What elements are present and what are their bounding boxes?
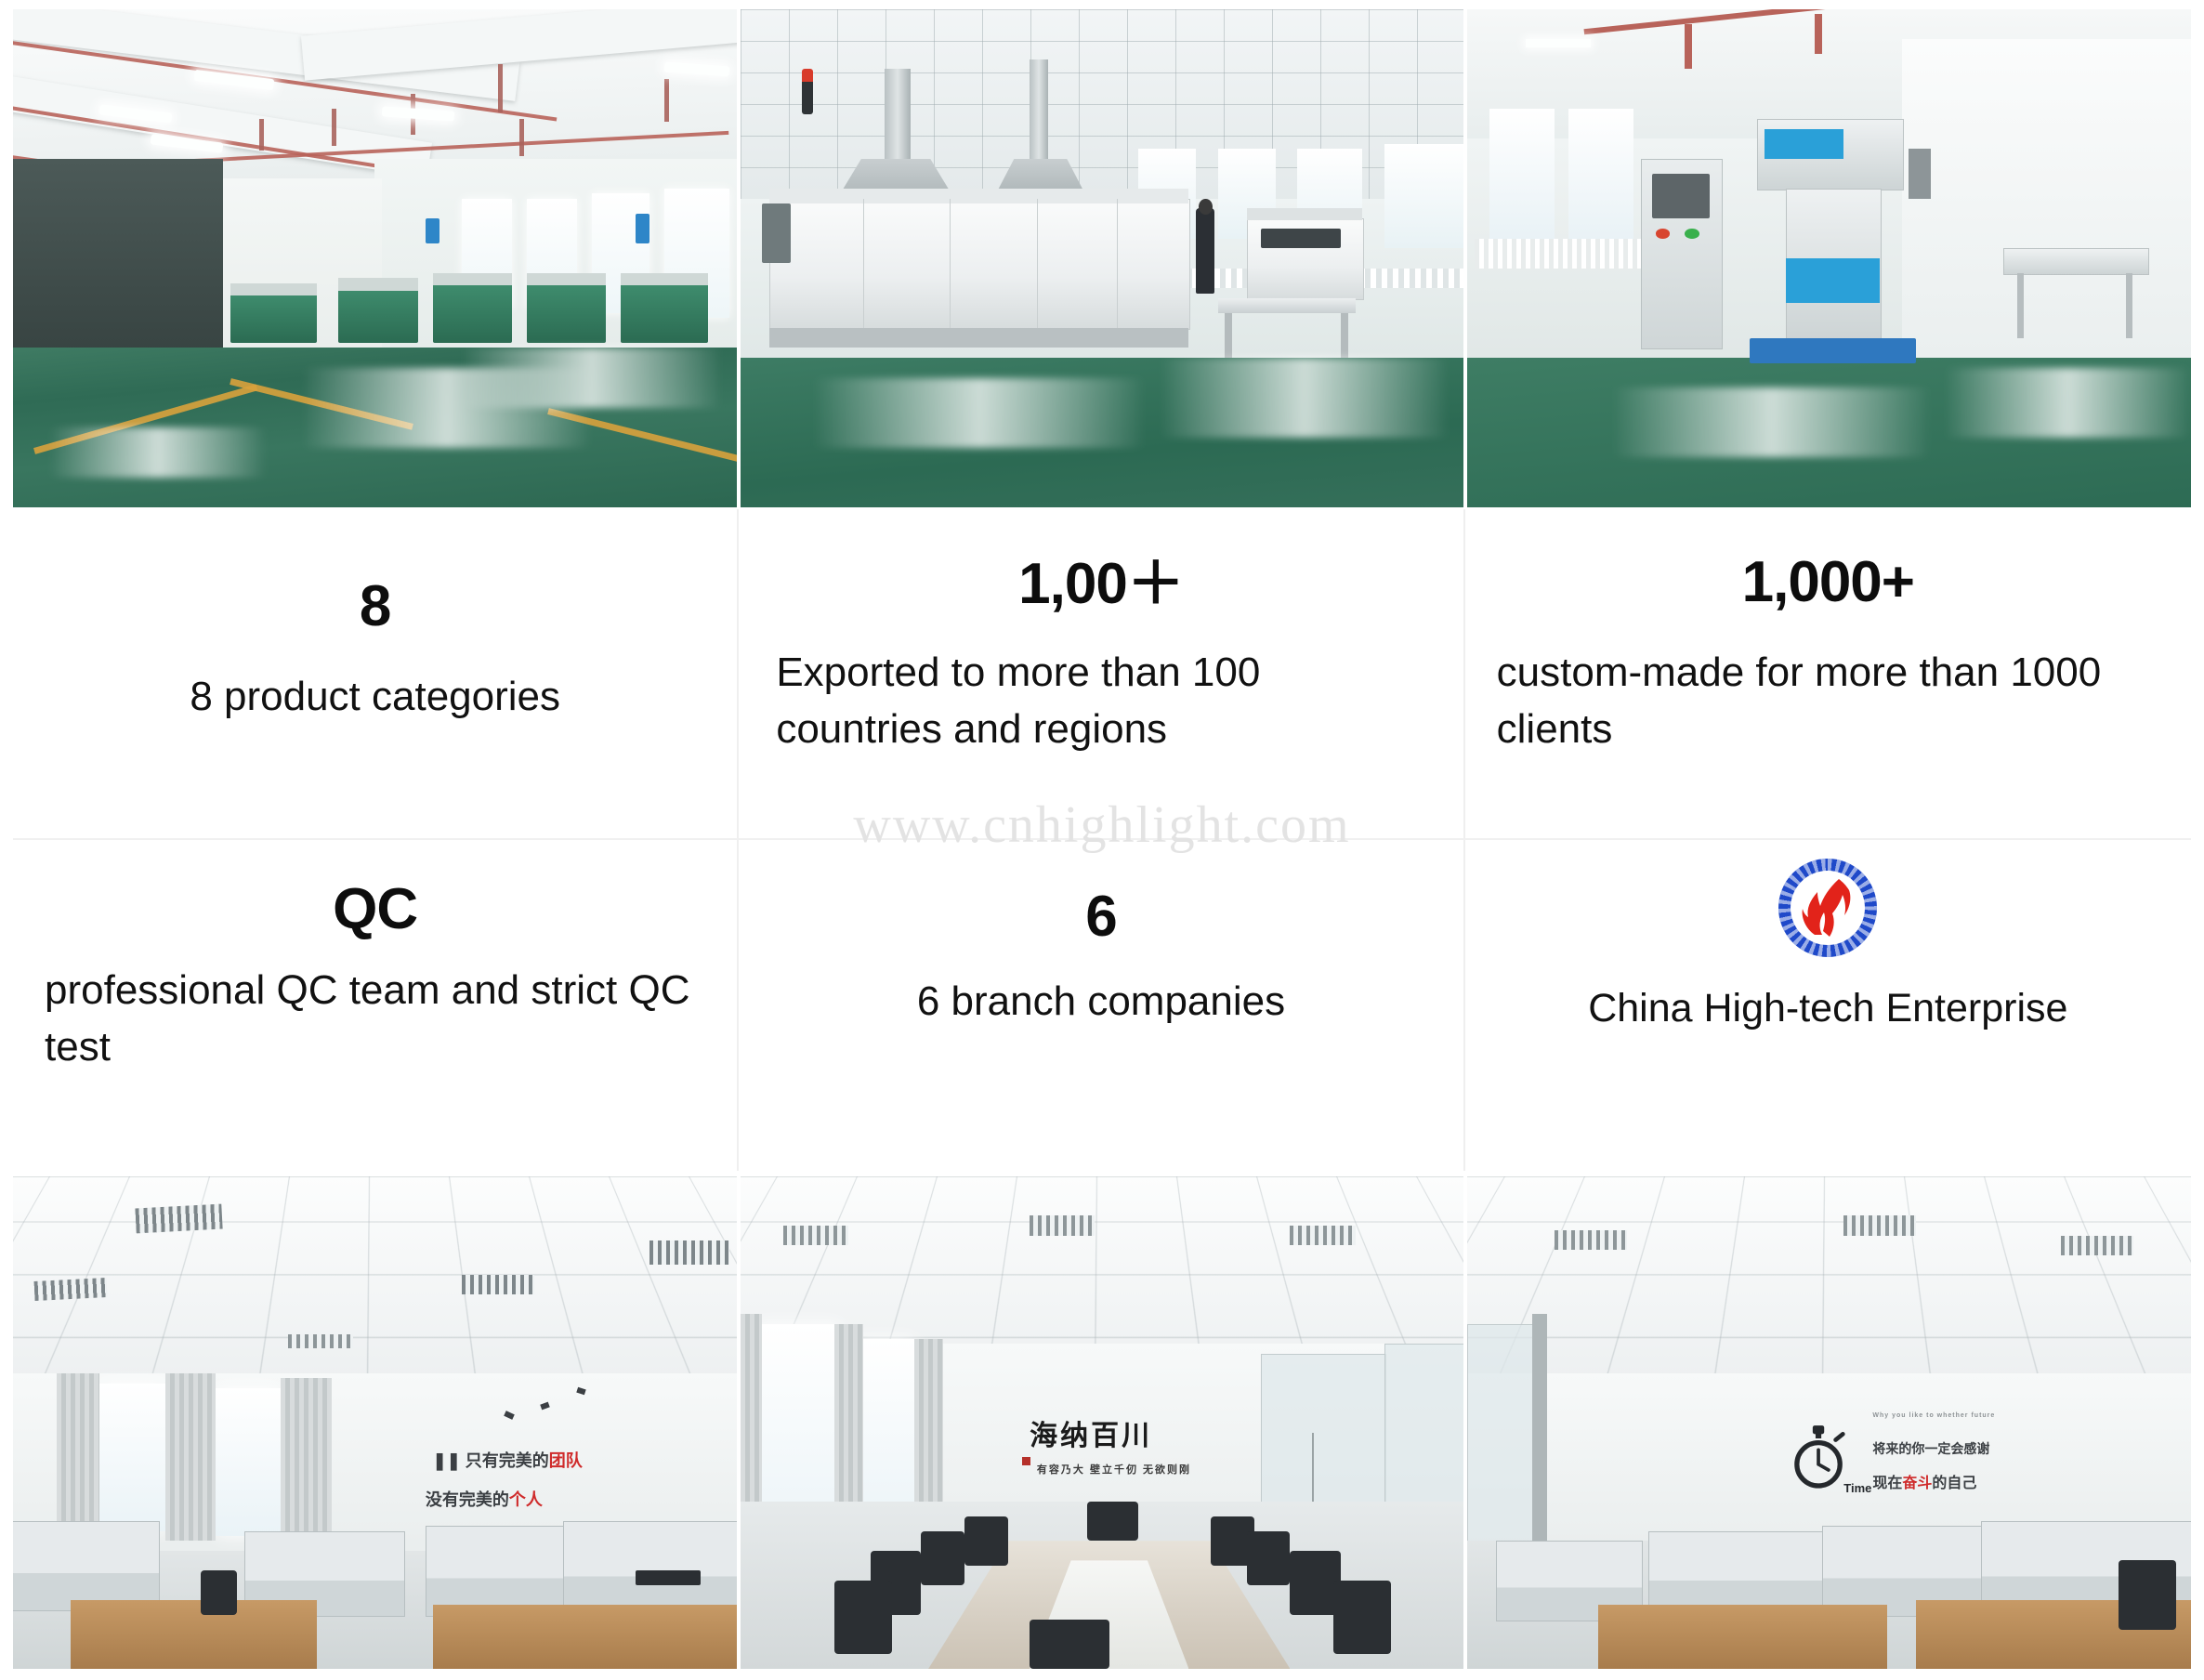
stat-number: 8 bbox=[360, 578, 390, 636]
cubicle-partition bbox=[13, 1521, 160, 1611]
work-table-top bbox=[1218, 298, 1356, 313]
floor-reflection bbox=[1945, 368, 2191, 438]
oven-entry-tunnel bbox=[762, 203, 791, 263]
pipe-drop bbox=[332, 109, 336, 146]
stat-description: professional QC team and strict QC test bbox=[45, 963, 705, 1075]
seal-stamp bbox=[1022, 1457, 1030, 1465]
stat-description: 8 product categories bbox=[190, 669, 560, 726]
floor-reflection bbox=[462, 348, 722, 407]
company-profile-infographic: 8 8 product categories 1,00＋ Exported to… bbox=[0, 0, 2204, 1680]
testing-equipment-photo bbox=[1467, 9, 2191, 507]
reflow-oven-line-photo bbox=[741, 9, 1464, 507]
pipe-drop bbox=[664, 79, 669, 122]
indicator-lamp bbox=[1685, 229, 1699, 239]
wall-decal-line2: 现在奋斗的自己 bbox=[1872, 1477, 1976, 1491]
chair bbox=[1333, 1581, 1391, 1655]
wall-calligraphy-decal: 海纳百川 bbox=[1030, 1412, 1152, 1453]
glass-door bbox=[1467, 1324, 1534, 1562]
stat-number: 6 bbox=[1085, 888, 1116, 946]
oven-panel-seam bbox=[863, 199, 864, 328]
ceiling-light-panel bbox=[136, 1203, 224, 1232]
ceiling-light-panel bbox=[649, 1240, 729, 1266]
exhaust-duct bbox=[885, 69, 910, 168]
curtain bbox=[165, 1373, 216, 1541]
floor-reflection bbox=[1612, 387, 1931, 457]
indicator-lamp bbox=[1656, 229, 1671, 239]
desk bbox=[1598, 1605, 1887, 1669]
window bbox=[1568, 109, 1633, 238]
stat-cell-exported-countries: 1,00＋ Exported to more than 100 countrie… bbox=[739, 509, 1464, 840]
stat-cell-branch-companies: 6 6 branch companies bbox=[739, 840, 1464, 1171]
ceiling-light-panel bbox=[2061, 1236, 2133, 1255]
factory-photo-row bbox=[13, 9, 2191, 507]
ceiling-light-panel bbox=[288, 1334, 353, 1349]
machine-top bbox=[527, 273, 607, 285]
stat-number: QC bbox=[333, 881, 417, 938]
desk bbox=[433, 1605, 737, 1669]
table-leg bbox=[2126, 273, 2132, 338]
oven-panel-seam bbox=[1037, 199, 1038, 328]
floor-reflection bbox=[1160, 358, 1449, 438]
reflow-oven-body bbox=[769, 199, 1191, 330]
stat-number: 1,000+ bbox=[1742, 554, 1914, 611]
office-workstations-photo: Time Why you like to whether future 将来的你… bbox=[1467, 1176, 2191, 1669]
wall-decal-line2: 没有完美的个人 bbox=[426, 1491, 543, 1508]
chair bbox=[201, 1570, 237, 1615]
office-meeting-room-photo: 海纳百川 有容乃大 壁立千仞 无欲则刚 bbox=[741, 1176, 1464, 1669]
chair-head bbox=[1087, 1502, 1138, 1541]
table-leg bbox=[1341, 313, 1348, 358]
window bbox=[99, 1384, 164, 1531]
machine-top bbox=[621, 273, 707, 285]
ceiling-light-panel bbox=[1290, 1226, 1355, 1245]
chair bbox=[921, 1531, 964, 1585]
door-frame bbox=[1532, 1314, 1547, 1570]
pipe-drop bbox=[498, 64, 503, 112]
stopwatch-label: Time bbox=[1843, 1482, 1871, 1494]
chair bbox=[834, 1581, 892, 1655]
stat-description: custom-made for more than 1000 clients bbox=[1497, 645, 2159, 757]
blue-band bbox=[1786, 258, 1880, 303]
blue-machine-face bbox=[1765, 129, 1844, 159]
worker bbox=[1196, 208, 1214, 293]
pipe-drop bbox=[259, 119, 264, 151]
ceiling-light-panel bbox=[1555, 1230, 1627, 1250]
exhaust-duct bbox=[1030, 59, 1048, 169]
machine-display bbox=[1261, 229, 1341, 248]
stat-description: China High-tech Enterprise bbox=[1588, 981, 2067, 1036]
machine bbox=[433, 283, 513, 343]
door-handle bbox=[1312, 1433, 1314, 1502]
pipe-drop bbox=[1685, 24, 1692, 69]
office-workspace-photo: ❚❚ 只有完美的团队 没有完美的个人 bbox=[13, 1176, 737, 1669]
oven-base bbox=[769, 328, 1189, 348]
curtain bbox=[281, 1378, 332, 1541]
guard-railing bbox=[1475, 239, 1648, 269]
factory-workshop-photo bbox=[13, 9, 737, 507]
machine-base-blue bbox=[1750, 338, 1916, 363]
chair bbox=[964, 1516, 1008, 1566]
right-white-wall bbox=[1902, 39, 2191, 377]
stopwatch-icon bbox=[1786, 1423, 1851, 1491]
wall-decal-line1: 将来的你一定会感谢 bbox=[1872, 1442, 1989, 1455]
ceiling-light bbox=[1526, 39, 1591, 47]
wall-sign bbox=[426, 218, 440, 243]
company-stats-grid: 8 8 product categories 1,00＋ Exported to… bbox=[13, 509, 2191, 1171]
chair bbox=[1030, 1620, 1109, 1669]
curtain bbox=[57, 1373, 100, 1541]
desk bbox=[71, 1600, 317, 1669]
pipe-drop bbox=[519, 119, 524, 156]
cubicle-partition bbox=[563, 1521, 737, 1617]
stat-description: Exported to more than 100 countries and … bbox=[770, 645, 1431, 757]
oven-panel-seam bbox=[1117, 199, 1118, 328]
machine-top bbox=[230, 283, 317, 295]
ceiling-light-panel bbox=[783, 1226, 848, 1245]
stat-cell-product-categories: 8 8 product categories bbox=[13, 509, 739, 840]
machine bbox=[338, 288, 418, 343]
stat-number: 1,00＋ bbox=[1018, 556, 1184, 613]
worker-head bbox=[1199, 199, 1213, 215]
stat-description: 6 branch companies bbox=[917, 974, 1285, 1030]
chair bbox=[1247, 1531, 1291, 1585]
machine-top bbox=[338, 278, 418, 290]
oven-top bbox=[769, 189, 1189, 203]
stat-cell-qc-team: QC professional QC team and strict QC te… bbox=[13, 840, 739, 1171]
ceiling-light-panel bbox=[462, 1275, 534, 1294]
ceiling-light-panel bbox=[1030, 1215, 1095, 1235]
pipe-drop bbox=[1815, 14, 1822, 54]
table-leg bbox=[1225, 313, 1232, 358]
window bbox=[216, 1388, 281, 1536]
window bbox=[1489, 109, 1555, 238]
ceiling-light-panel bbox=[34, 1278, 108, 1301]
desk-monitor bbox=[636, 1570, 701, 1585]
china-high-tech-enterprise-logo-icon bbox=[1778, 859, 1877, 957]
window bbox=[1384, 144, 1464, 249]
floor-reflection bbox=[49, 427, 267, 478]
machine-top bbox=[1247, 208, 1363, 220]
machine-top bbox=[433, 273, 513, 285]
wall-decal-line1: ❚❚ 只有完美的团队 bbox=[433, 1452, 583, 1469]
side-table bbox=[2003, 248, 2150, 275]
stat-cell-high-tech-enterprise: China High-tech Enterprise bbox=[1465, 840, 2191, 1171]
signal-lamp-red bbox=[802, 69, 813, 82]
wall-calligraphy-subtext: 有容乃大 壁立千仞 无欲则刚 bbox=[1037, 1462, 1191, 1477]
floor-reflection bbox=[813, 378, 1146, 448]
machine bbox=[621, 283, 707, 343]
oven-panel-seam bbox=[950, 199, 951, 328]
machine bbox=[527, 283, 607, 343]
cubicle-partition bbox=[1648, 1531, 1824, 1617]
office-photo-row: ❚❚ 只有完美的团队 没有完美的个人 bbox=[13, 1176, 2191, 1669]
dark-room-opening bbox=[13, 159, 223, 378]
ceiling-light-panel bbox=[1843, 1215, 1916, 1235]
logo-flame-icon bbox=[1801, 877, 1855, 938]
machine bbox=[230, 294, 317, 344]
signal-tower bbox=[802, 79, 813, 114]
chair bbox=[2119, 1560, 2176, 1629]
cubicle-partition bbox=[426, 1526, 572, 1616]
table-leg bbox=[2017, 273, 2024, 338]
stat-cell-custom-made-clients: 1,000+ custom-made for more than 1000 cl… bbox=[1465, 509, 2191, 840]
wall-decal-english: Why you like to whether future bbox=[1872, 1412, 1995, 1419]
wall-sign bbox=[636, 214, 650, 243]
cabinet-gauges bbox=[1652, 174, 1710, 218]
overhead-arm bbox=[1909, 149, 1930, 199]
